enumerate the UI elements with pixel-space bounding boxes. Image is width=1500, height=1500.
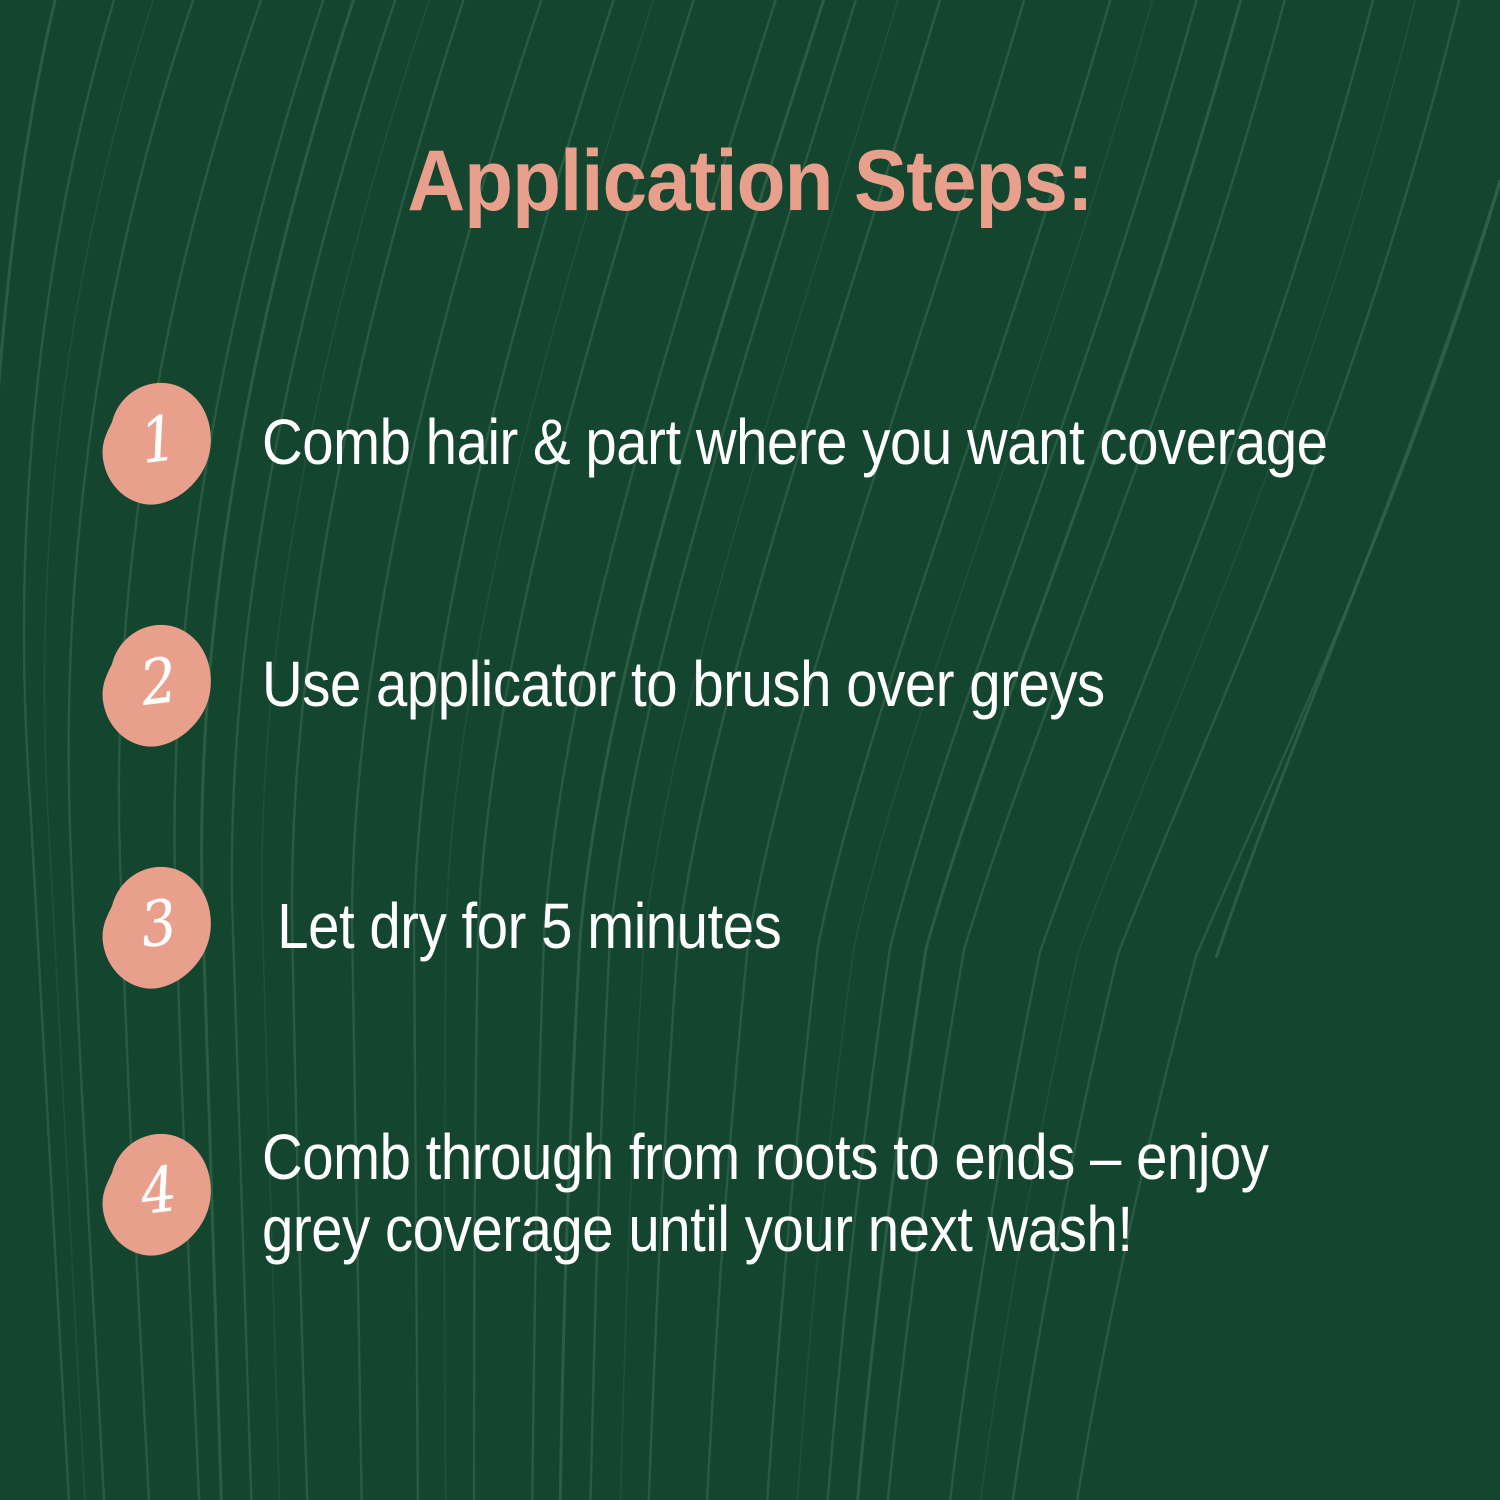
step-text: Comb hair & part where you want coverage [262, 406, 1328, 478]
step-number-badge: 1 [96, 378, 214, 506]
steps-list: 1 Comb hair & part where you want covera… [0, 362, 1500, 1298]
step-text: Let dry for 5 minutes [262, 890, 781, 962]
step-row: 1 Comb hair & part where you want covera… [0, 362, 1500, 522]
step-text: Use applicator to brush over greys [262, 648, 1105, 720]
step-row: 3 Let dry for 5 minutes [0, 846, 1500, 1006]
step-number-badge: 4 [96, 1129, 214, 1257]
step-row: 4 Comb through from roots to ends – enjo… [0, 1088, 1500, 1298]
page-title: Application Steps: [53, 132, 1448, 231]
step-number-badge: 3 [96, 862, 214, 990]
step-row: 2 Use applicator to brush over greys [0, 604, 1500, 764]
step-number-badge: 2 [96, 620, 214, 748]
application-steps-poster: Application Steps: 1 Comb hair & part wh… [0, 0, 1500, 1500]
step-text: Comb through from roots to ends – enjoy … [262, 1121, 1269, 1266]
